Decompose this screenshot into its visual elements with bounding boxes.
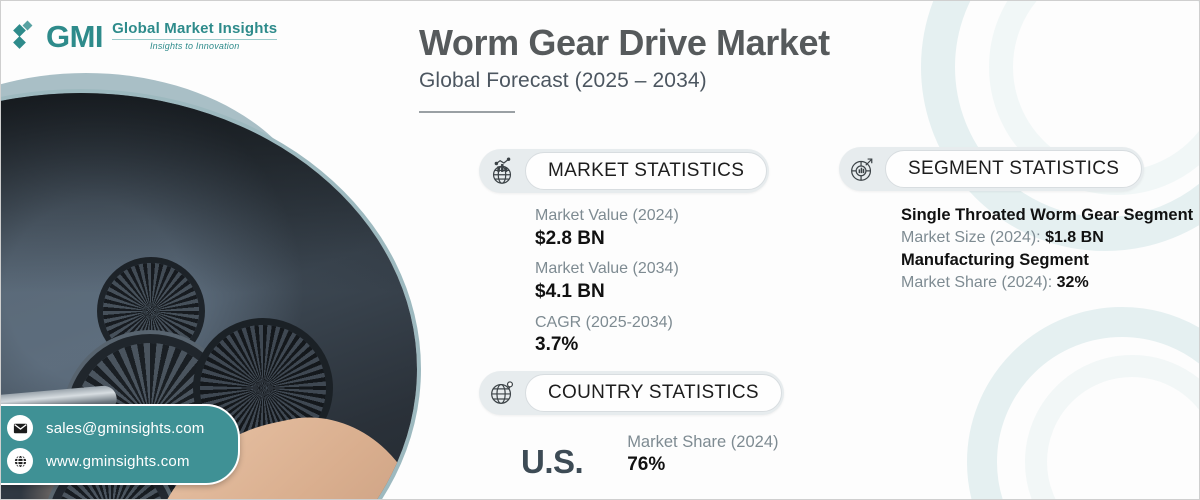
segment-statistics-block: SEGMENT STATISTICS Single Throated Worm …	[839, 147, 1193, 294]
logo-tagline: Insights to Innovation	[112, 42, 277, 51]
logo-initials: GMI	[46, 21, 103, 52]
segment-statistics-title: SEGMENT STATISTICS	[885, 150, 1142, 188]
country-statistics-pill: COUNTRY STATISTICS	[479, 371, 784, 415]
globe-icon	[7, 448, 33, 474]
cagr-value: 3.7%	[535, 333, 769, 358]
market-statistics-block: MARKET STATISTICS Market Value (2024) $2…	[479, 149, 769, 365]
segment-one-metric-value: $1.8 BN	[1045, 229, 1104, 246]
segment-one-metric-label: Market Size (2024):	[901, 229, 1041, 246]
contact-badge: sales@gminsights.com www.gminsights.com	[0, 404, 240, 485]
market-value-2034-value: $4.1 BN	[535, 280, 769, 305]
gmi-logo[interactable]: GMI Global Market Insights Insights to I…	[15, 21, 277, 52]
logo-wordmark: Global Market Insights Insights to Innov…	[112, 21, 277, 51]
country-statistics-title: COUNTRY STATISTICS	[525, 374, 782, 412]
country-statistics-block: COUNTRY STATISTICS U.S. Market Share (20…	[479, 371, 784, 478]
country-metric-label: Market Share (2024)	[627, 431, 778, 453]
report-heading: Worm Gear Drive Market Global Forecast (…	[419, 23, 830, 113]
segment-one-name: Single Throated Worm Gear Segment	[901, 205, 1193, 226]
market-infographic: GMI Global Market Insights Insights to I…	[0, 0, 1200, 500]
market-statistics-list: Market Value (2024) $2.8 BN Market Value…	[479, 205, 769, 358]
market-statistics-pill: MARKET STATISTICS	[479, 149, 769, 193]
photo-top-shade	[0, 93, 417, 293]
country-metric-value: 76%	[627, 453, 778, 478]
contact-email: sales@gminsights.com	[46, 420, 204, 437]
page-title: Worm Gear Drive Market	[419, 23, 830, 63]
segment-statistics-pill: SEGMENT STATISTICS	[839, 147, 1144, 191]
logo-company-name: Global Market Insights	[112, 21, 277, 37]
market-value-2024-value: $2.8 BN	[535, 227, 769, 252]
market-value-2034-label: Market Value (2034)	[535, 258, 769, 280]
page-subtitle: Global Forecast (2025 – 2034)	[419, 69, 830, 93]
market-statistics-title: MARKET STATISTICS	[525, 152, 767, 190]
globe-pin-icon	[479, 371, 525, 415]
gmi-diamond-icon	[15, 22, 37, 52]
segment-one-metric: Market Size (2024): $1.8 BN	[901, 226, 1193, 249]
segment-two-name: Manufacturing Segment	[901, 250, 1193, 271]
donut-chart-arrow-icon	[839, 147, 885, 191]
globe-bar-chart-icon	[479, 149, 525, 193]
segment-two-metric: Market Share (2024): 32%	[901, 271, 1193, 294]
segment-two-metric-label: Market Share (2024):	[901, 274, 1052, 291]
logo-divider	[112, 39, 277, 40]
contact-email-row[interactable]: sales@gminsights.com	[7, 415, 204, 441]
envelope-icon	[7, 415, 33, 441]
country-statistics-row: U.S. Market Share (2024) 76%	[479, 431, 784, 478]
title-underline	[419, 111, 515, 113]
cagr-label: CAGR (2025-2034)	[535, 312, 769, 334]
market-value-2024-label: Market Value (2024)	[535, 205, 769, 227]
country-name: U.S.	[521, 445, 583, 478]
contact-website-row[interactable]: www.gminsights.com	[7, 448, 204, 474]
country-metric: Market Share (2024) 76%	[627, 431, 778, 478]
contact-website: www.gminsights.com	[46, 453, 190, 470]
segment-two-metric-value: 32%	[1057, 274, 1089, 291]
segment-statistics-list: Single Throated Worm Gear Segment Market…	[839, 205, 1193, 294]
